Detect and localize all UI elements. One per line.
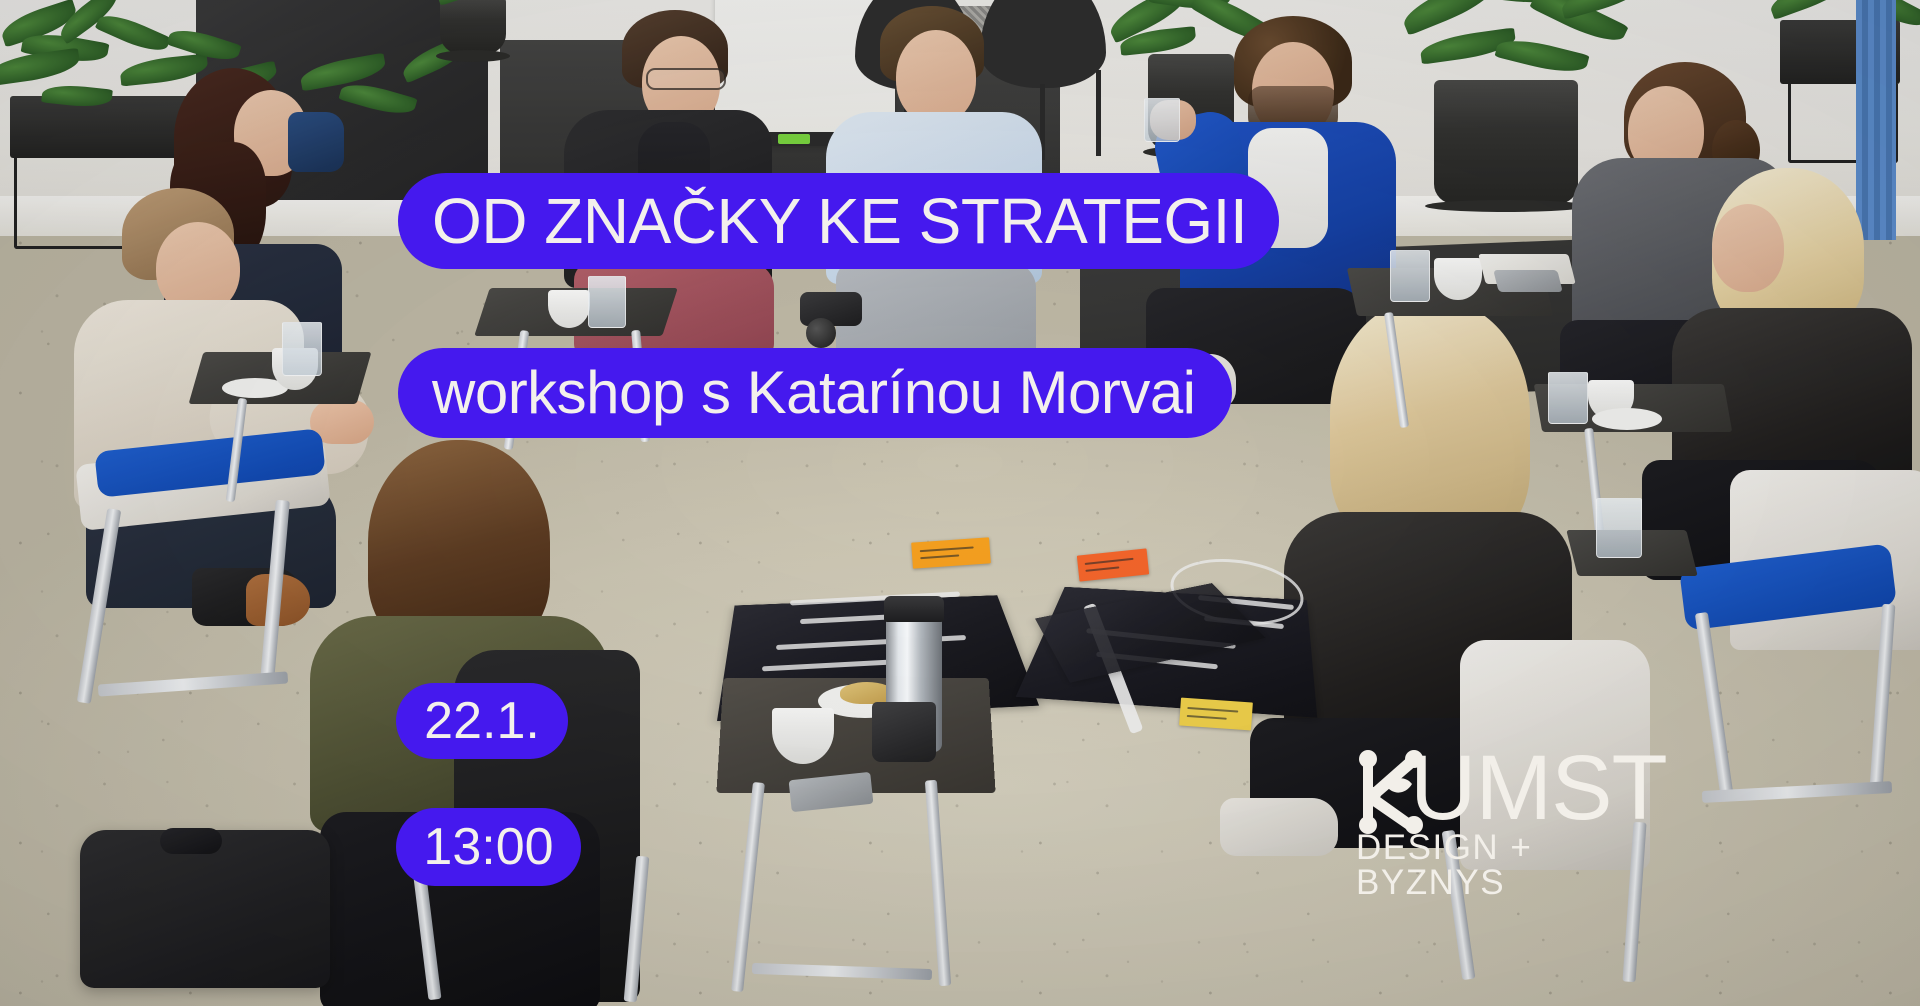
sticky-note-orange (911, 537, 991, 568)
blue-cushion (288, 112, 344, 172)
event-date: 22.1. (424, 695, 540, 747)
event-time-badge: 13:00 (396, 808, 581, 886)
event-poster: OD ZNAČKY KE STRATEGII workshop s Katarí… (0, 0, 1920, 1006)
event-time: 13:00 (423, 821, 553, 873)
shoe-sneaker (1220, 798, 1338, 856)
event-subtitle: workshop s Katarínou Morvai (432, 363, 1196, 423)
head (896, 30, 976, 124)
head (1712, 204, 1784, 292)
eyeglasses-icon (646, 68, 726, 90)
water-glass (588, 276, 626, 328)
kumst-logo: UMST DESIGN + BYZNYS (1352, 748, 1646, 870)
legs-trousers (836, 262, 1036, 362)
kumst-wordmark: UMST (1410, 742, 1667, 834)
smartphone (1493, 270, 1562, 292)
event-date-badge: 22.1. (396, 683, 568, 759)
kumst-tagline: DESIGN + BYZNYS (1356, 830, 1646, 900)
event-title-banner: OD ZNAČKY KE STRATEGII (398, 173, 1279, 269)
event-title: OD ZNAČKY KE STRATEGII (432, 189, 1247, 253)
office-chair-wheel (806, 318, 836, 348)
water-glass (1596, 498, 1642, 558)
saucer (1592, 408, 1662, 430)
water-glass (1548, 372, 1588, 424)
lounge-chair-leg (1096, 70, 1101, 156)
plant-pot (440, 0, 506, 54)
event-subtitle-banner: workshop s Katarínou Morvai (398, 348, 1232, 438)
backpack-strap (160, 828, 222, 854)
water-glass (1390, 250, 1430, 302)
thermos-cap (884, 596, 944, 622)
sticky-note-yellow (1179, 698, 1253, 731)
water-glass (1144, 98, 1180, 142)
water-glass (282, 322, 322, 376)
thermos-cup (872, 702, 936, 762)
plant-pot-large (1434, 80, 1578, 204)
